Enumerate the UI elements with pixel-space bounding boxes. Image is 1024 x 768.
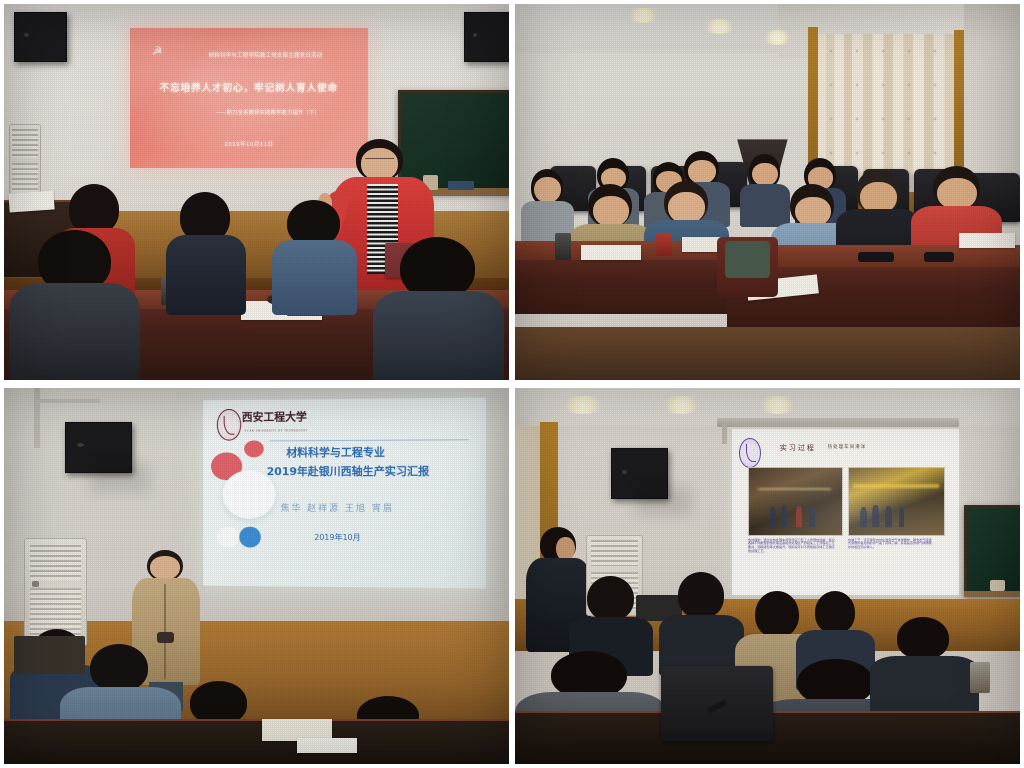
face [752, 163, 777, 186]
head [815, 591, 856, 634]
slide-photo-left [748, 467, 843, 535]
decor-circle-white-small [217, 527, 239, 548]
mobile-phone [858, 252, 893, 261]
decor-circle-blue [239, 527, 261, 548]
photo-collage: ☭ 材料科学与工程学院教工党支部主题党日活动 不忘培养人才初心，牢记树人育人使命… [0, 0, 1024, 768]
slide-date-line: 2019年10月 [314, 533, 360, 544]
dark-top [373, 291, 504, 380]
slide-title-line-1: 材料科学与工程专业 [286, 444, 385, 460]
ceiling-light [702, 19, 737, 34]
desk-back-row [515, 252, 747, 314]
logo-underline [269, 440, 468, 442]
university-logo-cn: 西安工程大学 [242, 409, 307, 425]
ceiling-speaker-right [464, 12, 509, 63]
head [587, 576, 634, 621]
rail-bracket [722, 422, 727, 445]
gray-jacket [9, 283, 140, 380]
slide-subtitle-line: ——助力全系教师实践教学能力提升（下） [130, 109, 367, 116]
slide-photo-left-caption: 热处理炉：通过在热处理车间现场实习及工人师傅的讲解，我对各种不同类型的热处理设备… [748, 539, 837, 554]
speaker-shadow [636, 486, 692, 516]
slide-subtitle: 热处理车间滑洋 [828, 444, 867, 450]
podium-papers [8, 190, 55, 212]
mobile-phone [924, 252, 954, 261]
ceiling-light [757, 396, 797, 415]
panel-bottom-right: 实习过程 热处理车间滑洋 热处理炉：通过在热处理车间现场实习及工人师傅的讲解，我… [515, 388, 1020, 764]
denim-jacket [272, 240, 358, 314]
ceiling-light [560, 396, 605, 415]
university-seal-icon [217, 410, 241, 442]
notebook [581, 245, 642, 260]
slide-photo-right-caption: 热碱工艺：该高理室内炉在温度式气体渗碳炉，碳含水气连续式渗碳炉备加热的水气着了具… [848, 539, 934, 551]
papers [297, 738, 358, 753]
slide-authors: 焦华 赵祥源 王旭 宵眉 [281, 501, 394, 514]
dark-top [870, 656, 979, 717]
thermos-cup [555, 233, 570, 259]
slide-photo-right [848, 467, 945, 535]
printed-paper [959, 233, 1015, 248]
audience-member-foreground [378, 237, 499, 380]
chalk-tray [964, 591, 1020, 597]
chalk-box [990, 580, 1005, 591]
panel-top-right: Attendees seated in rows at dark wooden … [515, 4, 1020, 380]
presenter-glasses [365, 158, 394, 164]
projection-screen: 西安工程大学 XI'AN UNIVERSITY OF TECHNOLOGY 材料… [203, 398, 485, 589]
head [897, 617, 950, 660]
audience-member [667, 572, 738, 674]
wall-conduit [34, 388, 40, 448]
projection-screen: 实习过程 热处理车间滑洋 热处理炉：通过在热处理车间现场实习及工人师傅的讲解，我… [732, 429, 959, 594]
presenter-face [150, 556, 180, 580]
projector-screen-rail [717, 418, 959, 427]
face [556, 537, 575, 561]
university-logo-en: XI'AN UNIVERSITY OF TECHNOLOGY [244, 430, 307, 433]
slide-header-line: 材料科学与工程学院教工党支部主题党日活动 [130, 51, 367, 59]
slide-title-line-2: 2019年赴银川西轴生产实习汇报 [267, 463, 430, 479]
chair-cushion [725, 241, 770, 279]
slide-title: 实习过程 [780, 443, 816, 453]
head [90, 644, 149, 692]
university-seal-icon [739, 438, 761, 468]
head [678, 572, 725, 619]
audience-member-foreground [879, 617, 970, 715]
speaker-shadow [90, 463, 151, 493]
panel-top-left: ☭ 材料科学与工程学院教工党支部主题党日活动 不忘培养人才初心，牢记树人育人使命… [4, 4, 509, 380]
head [755, 591, 799, 638]
audience-member-foreground [14, 230, 135, 380]
audience-member [166, 192, 247, 312]
desk-equipment [14, 636, 85, 674]
wall-conduit-h [34, 399, 100, 403]
desk-row [4, 719, 509, 764]
floor [515, 327, 1020, 380]
eraser [448, 181, 473, 190]
decor-circle-red-small [244, 441, 263, 458]
red-cup [656, 233, 671, 256]
audience-member [272, 200, 358, 313]
ceiling-light [661, 396, 701, 415]
face [534, 177, 560, 203]
glass-cup [970, 662, 990, 692]
dark-jacket [166, 235, 247, 314]
panel-bottom-left: 西安工程大学 XI'AN UNIVERSITY OF TECHNOLOGY 材料… [4, 388, 509, 764]
slide-main-line: 不忘培养人才初心，牢记树人育人使命 [130, 80, 367, 94]
ceiling-speaker-left [14, 12, 67, 63]
presenter-hands [157, 632, 174, 643]
